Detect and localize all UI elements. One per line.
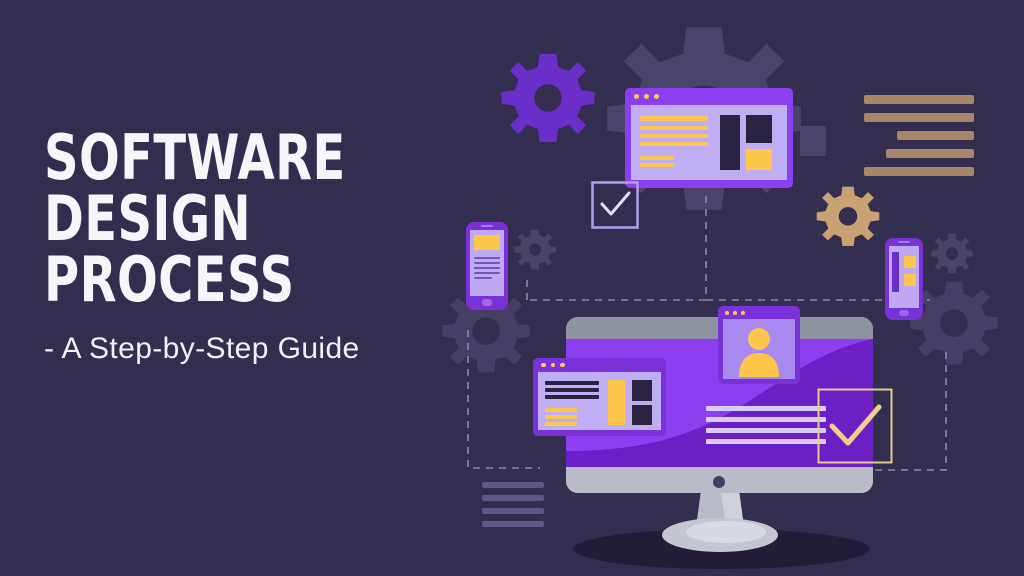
screen-line — [706, 428, 826, 433]
browser-window-top — [625, 88, 793, 188]
content-block-yellow — [904, 274, 916, 286]
phone-right — [885, 238, 923, 320]
browser-window-left — [533, 358, 666, 436]
window-dot-icon — [560, 363, 565, 368]
content-line — [640, 163, 674, 167]
user-avatar-icon — [723, 321, 795, 381]
window-dot-icon — [551, 363, 556, 368]
monitor-power-dot-icon — [713, 476, 725, 488]
screen-line — [706, 439, 826, 444]
content-line — [640, 116, 708, 121]
window-dot-icon — [644, 94, 649, 99]
window-dot-icon — [654, 94, 659, 99]
window-dot-icon — [725, 311, 729, 315]
phone-screen — [889, 246, 919, 308]
window-dot-icon — [733, 311, 737, 315]
text-bar — [482, 521, 544, 527]
text-bar — [886, 149, 974, 158]
window-dot-icon — [741, 311, 745, 315]
phone-home-button-icon — [899, 310, 909, 316]
window-titlebar — [718, 306, 800, 319]
content-block-dark — [720, 115, 740, 170]
text-bar — [864, 113, 974, 122]
content-line — [640, 142, 708, 146]
phone-speaker-icon — [898, 241, 910, 243]
window-titlebar — [625, 88, 793, 105]
content-block-yellow — [904, 256, 916, 268]
content-line — [640, 156, 674, 160]
page-title: SOFTWARE DESIGN PROCESS — [44, 128, 422, 310]
content-block-dark — [632, 405, 652, 425]
content-block-dark — [632, 380, 652, 401]
text-bar — [864, 95, 974, 104]
banner-root: SOFTWARE DESIGN PROCESS - A Step-by-Step… — [0, 0, 1024, 576]
text-bar — [864, 167, 974, 176]
window-content — [631, 105, 787, 180]
content-line — [545, 395, 599, 399]
window-content — [538, 372, 661, 430]
content-line — [545, 415, 577, 419]
browser-window-avatar — [718, 306, 800, 384]
text-bar — [482, 495, 544, 501]
window-dot-icon — [541, 363, 546, 368]
monitor-stand — [640, 483, 800, 555]
text-bar — [482, 508, 544, 514]
window-dot-icon — [634, 94, 639, 99]
content-line — [545, 381, 599, 385]
checkbox-purple — [591, 181, 639, 229]
content-line — [640, 134, 708, 138]
screen-line — [706, 417, 826, 422]
content-line — [545, 422, 577, 426]
content-block-yellow — [746, 149, 772, 170]
content-line — [545, 388, 599, 392]
window-titlebar — [533, 358, 666, 372]
checkbox-yellow — [817, 388, 893, 464]
text-bar — [482, 482, 544, 488]
content-block-yellow — [608, 380, 625, 425]
content-block-dark — [892, 252, 899, 292]
decorative-square — [800, 126, 826, 156]
text-bar — [897, 131, 974, 140]
window-content — [723, 319, 795, 379]
headline-block: SOFTWARE DESIGN PROCESS - A Step-by-Step… — [44, 128, 484, 366]
screen-line — [706, 406, 826, 411]
page-subtitle: - A Step-by-Step Guide — [44, 332, 484, 366]
content-line — [545, 408, 577, 412]
content-line — [640, 126, 708, 130]
content-block-dark — [746, 115, 772, 143]
